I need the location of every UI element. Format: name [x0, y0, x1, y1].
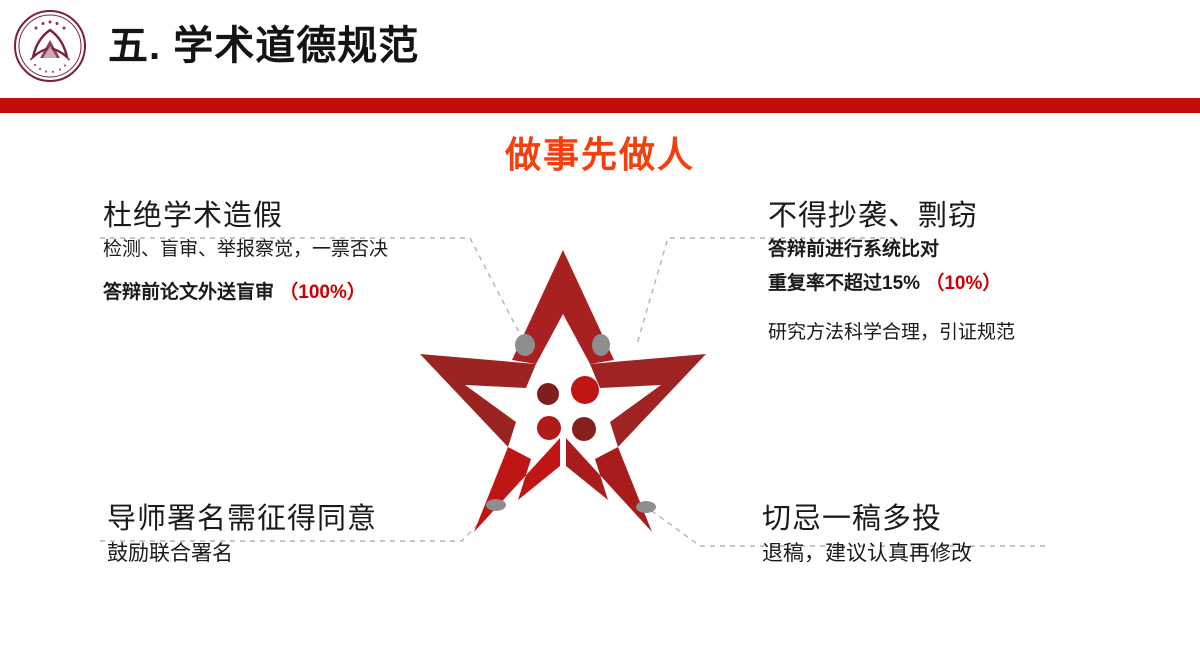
university-seal-logo — [13, 9, 87, 83]
quadrant-top-left: 杜绝学术造假 检测、盲审、举报察觉，一票否决 答辩前论文外送盲审 （100%） — [103, 192, 388, 320]
quadrant-top-right-line-2: 重复率不超过15% （10%） — [768, 268, 1015, 295]
five-pointed-star-graphic — [418, 242, 708, 542]
quadrant-top-left-line-1-text: 检测、盲审、举报察觉，一票否决 — [103, 239, 388, 260]
quadrant-bottom-right-line-1-text: 退稿，建议认真再修改 — [762, 541, 972, 565]
dot-top-right — [571, 376, 599, 404]
quadrant-top-right-heading: 不得抄袭、剽窃 — [768, 192, 1015, 234]
anchor-bottom-right — [636, 501, 656, 513]
quadrant-top-left-line-2-text: 答辩前论文外送盲审 — [103, 282, 274, 303]
quadrant-bottom-left-heading: 导师署名需征得同意 — [107, 495, 377, 537]
quadrant-top-right-line-2-highlight: （10%） — [925, 273, 1001, 294]
quadrant-top-left-heading: 杜绝学术造假 — [103, 192, 388, 234]
star-arms — [420, 250, 706, 532]
star-arm-lower-left — [474, 438, 560, 532]
dot-bottom-right — [572, 417, 596, 441]
page-title: 五. 学术道德规范 — [108, 16, 419, 76]
quadrant-bottom-right: 切忌一稿多投 退稿，建议认真再修改 — [762, 495, 972, 567]
quadrant-top-right-line-3: 研究方法科学合理，引证规范 — [768, 317, 1015, 344]
star-center-dots — [537, 376, 599, 441]
quadrant-top-right: 不得抄袭、剽窃 答辩前进行系统比对 重复率不超过15% （10%） 研究方法科学… — [768, 192, 1015, 351]
quadrant-top-right-line-1-text: 答辩前进行系统比对 — [768, 239, 939, 260]
quadrant-bottom-left-line-1: 鼓励联合署名 — [107, 537, 377, 567]
quadrant-top-left-line-1: 检测、盲审、举报察觉，一票否决 — [103, 234, 388, 261]
slide-canvas: 五. 学术道德规范 做事先做人 — [0, 0, 1200, 671]
quadrant-bottom-left: 导师署名需征得同意 鼓励联合署名 — [107, 495, 377, 567]
header-red-rule — [0, 98, 1200, 113]
anchor-top-left — [515, 334, 535, 356]
dot-top-left — [537, 383, 559, 405]
dot-bottom-left — [537, 416, 561, 440]
quadrant-bottom-right-heading: 切忌一稿多投 — [762, 495, 972, 537]
quadrant-bottom-left-line-1-text: 鼓励联合署名 — [107, 541, 233, 565]
star-arm-upper-left — [420, 354, 536, 447]
quadrant-top-right-line-2-text: 重复率不超过15% — [768, 273, 920, 294]
star-arm-upper-right — [590, 354, 706, 447]
quadrant-top-left-line-2-highlight: （100%） — [279, 282, 366, 303]
anchor-bottom-left — [486, 499, 506, 511]
anchor-top-right — [592, 334, 610, 356]
main-title: 做事先做人 — [0, 126, 1200, 178]
quadrant-bottom-right-line-1: 退稿，建议认真再修改 — [762, 537, 972, 567]
quadrant-top-right-line-3-text: 研究方法科学合理，引证规范 — [768, 322, 1015, 343]
quadrant-top-right-line-1: 答辩前进行系统比对 — [768, 234, 1015, 261]
quadrant-top-left-line-2: 答辩前论文外送盲审 （100%） — [103, 277, 388, 304]
star-arm-lower-right — [566, 438, 652, 532]
slide-header: 五. 学术道德规范 — [0, 0, 1200, 98]
